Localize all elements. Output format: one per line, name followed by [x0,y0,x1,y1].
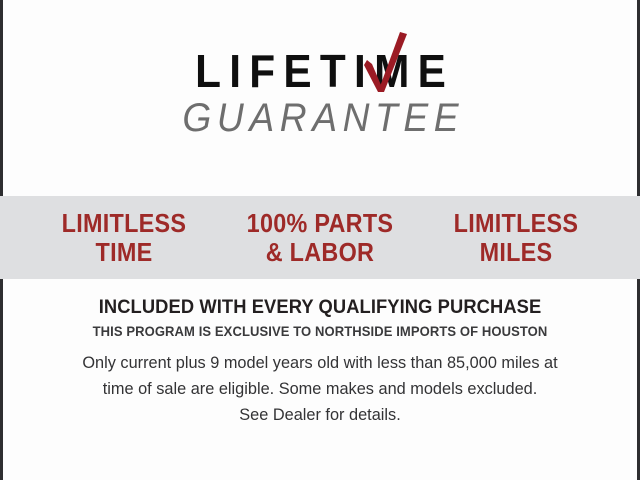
logo-lockup: LIFETIME GUARANTEE [166,48,475,138]
fine-print-line: time of sale are eligible. Some makes an… [13,376,627,402]
benefits-band: LIMITLESS TIME 100% PARTS & LABOR LIMITL… [0,196,640,279]
logo-lifetime-text: LIFETIME [178,48,462,94]
logo-guarantee-text: GUARANTEE [176,98,463,138]
benefit-line-1: LIMITLESS [36,209,212,237]
benefit-limitless-miles: LIMITLESS MILES [428,209,604,265]
fine-print-line: Only current plus 9 model years old with… [13,350,627,376]
included-heading: INCLUDED WITH EVERY QUALIFYING PURCHASE [19,296,621,319]
benefit-line-1: LIMITLESS [428,209,604,237]
fine-print-block: Only current plus 9 model years old with… [0,350,640,428]
fine-print-line: See Dealer for details. [13,402,627,428]
benefit-line-2: MILES [428,238,604,266]
benefit-line-2: TIME [36,238,212,266]
logo-block: LIFETIME GUARANTEE [0,48,640,138]
benefit-line-2: & LABOR [232,238,408,266]
lifetime-guarantee-promo-card: LIFETIME GUARANTEE LIMITLESS TIME 100% P… [0,0,640,480]
benefit-limitless-time: LIMITLESS TIME [36,209,212,265]
exclusive-subheading: THIS PROGRAM IS EXCLUSIVE TO NORTHSIDE I… [22,323,617,339]
benefit-parts-and-labor: 100% PARTS & LABOR [232,209,408,265]
benefit-line-1: 100% PARTS [232,209,408,237]
